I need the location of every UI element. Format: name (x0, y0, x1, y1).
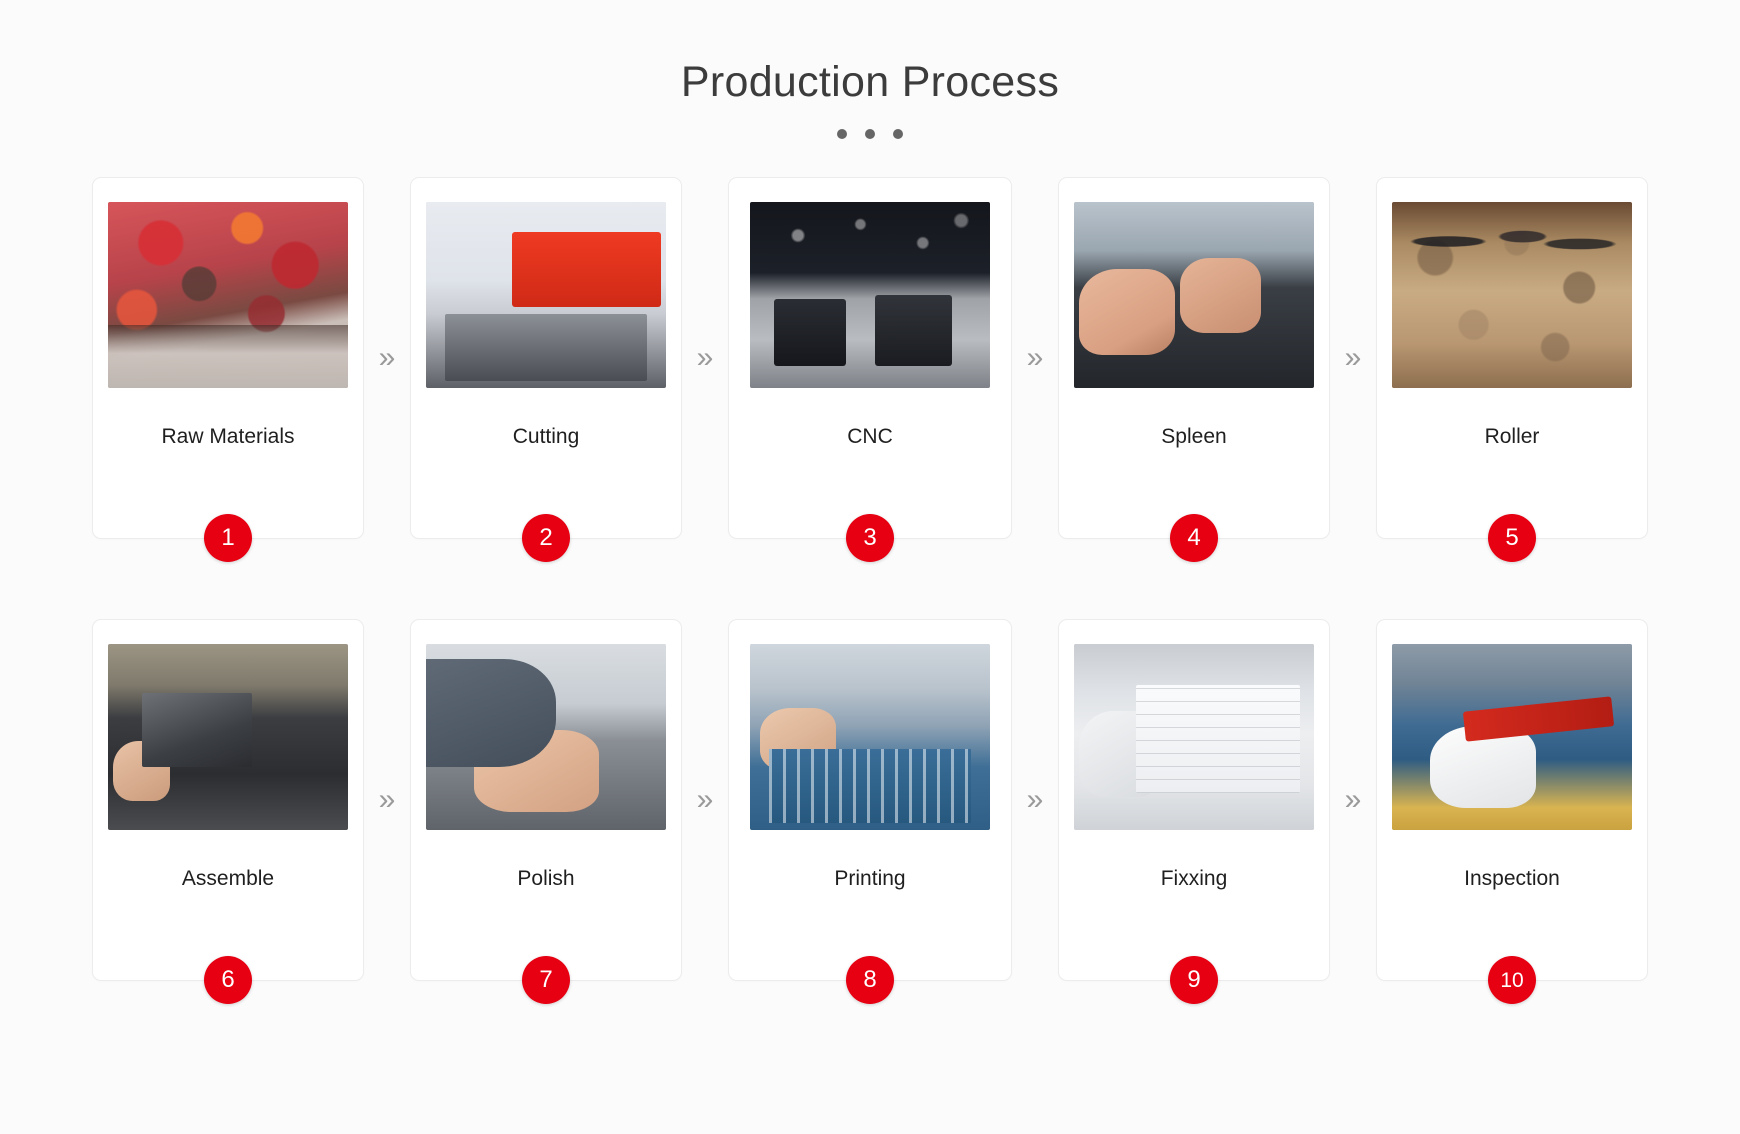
printing-photo (750, 644, 990, 830)
process-step-label: Inspection (1456, 866, 1568, 891)
inspection-photo (1392, 644, 1632, 830)
process-row: Assemble6»Polish7»Printing8»Fixxing9»Ins… (92, 619, 1648, 981)
double-chevron-right-icon: » (1330, 619, 1376, 981)
decoration-dot-icon (865, 129, 875, 139)
process-step-label: Spleen (1153, 424, 1234, 449)
assemble-photo (108, 644, 348, 830)
double-chevron-right-icon: » (1330, 177, 1376, 539)
process-step-card[interactable]: Cutting2 (410, 177, 682, 539)
spleen-photo (1074, 202, 1314, 388)
process-step-number-badge: 2 (522, 514, 570, 562)
process-step-label: Fixxing (1153, 866, 1236, 891)
process-step-card[interactable]: Assemble6 (92, 619, 364, 981)
title-dots-decoration (0, 129, 1740, 139)
process-row: Raw Materials1»Cutting2»CNC3»Spleen4»Rol… (92, 177, 1648, 539)
process-step-number-badge: 4 (1170, 514, 1218, 562)
process-step-number-badge: 9 (1170, 956, 1218, 1004)
polish-photo (426, 644, 666, 830)
process-step-label: Cutting (505, 424, 588, 449)
double-chevron-right-icon: » (682, 619, 728, 981)
process-step-number-badge: 7 (522, 956, 570, 1004)
decoration-dot-icon (837, 129, 847, 139)
double-chevron-right-icon: » (1012, 177, 1058, 539)
double-chevron-right-icon: » (364, 619, 410, 981)
process-step-label: Polish (509, 866, 582, 891)
roller-photo-art (1392, 202, 1632, 388)
process-step-number-badge: 1 (204, 514, 252, 562)
process-step-label: Printing (826, 866, 913, 891)
inspection-photo-art (1392, 644, 1632, 830)
production-process-page: Production Process Raw Materials1»Cuttin… (0, 0, 1740, 1134)
process-step-card[interactable]: Roller5 (1376, 177, 1648, 539)
cutting-photo (426, 202, 666, 388)
process-step-label: Roller (1477, 424, 1548, 449)
cutting-photo-art (426, 202, 666, 388)
process-step-card[interactable]: CNC3 (728, 177, 1012, 539)
process-rows: Raw Materials1»Cutting2»CNC3»Spleen4»Rol… (0, 177, 1740, 981)
process-step-card[interactable]: Spleen4 (1058, 177, 1330, 539)
process-step-number-badge: 5 (1488, 514, 1536, 562)
process-step-card[interactable]: Raw Materials1 (92, 177, 364, 539)
page-title: Production Process (0, 58, 1740, 107)
process-step-number-badge: 8 (846, 956, 894, 1004)
double-chevron-right-icon: » (682, 177, 728, 539)
process-step-card[interactable]: Printing8 (728, 619, 1012, 981)
process-step-card[interactable]: Fixxing9 (1058, 619, 1330, 981)
process-step-number-badge: 6 (204, 956, 252, 1004)
cnc-photo (750, 202, 990, 388)
double-chevron-right-icon: » (1012, 619, 1058, 981)
process-step-label: CNC (839, 424, 901, 449)
cnc-photo-art (750, 202, 990, 388)
fixxing-photo-art (1074, 644, 1314, 830)
process-step-card[interactable]: Inspection10 (1376, 619, 1648, 981)
polish-photo-art (426, 644, 666, 830)
process-step-number-badge: 3 (846, 514, 894, 562)
printing-photo-art (750, 644, 990, 830)
roller-photo (1392, 202, 1632, 388)
double-chevron-right-icon: » (364, 177, 410, 539)
process-step-label: Raw Materials (153, 424, 302, 449)
process-step-number-badge: 10 (1488, 956, 1536, 1004)
process-step-card[interactable]: Polish7 (410, 619, 682, 981)
spleen-photo-art (1074, 202, 1314, 388)
page-header: Production Process (0, 0, 1740, 139)
decoration-dot-icon (893, 129, 903, 139)
fixxing-photo (1074, 644, 1314, 830)
raw-materials-photo-art (108, 202, 348, 388)
raw-materials-photo (108, 202, 348, 388)
process-step-label: Assemble (174, 866, 282, 891)
assemble-photo-art (108, 644, 348, 830)
